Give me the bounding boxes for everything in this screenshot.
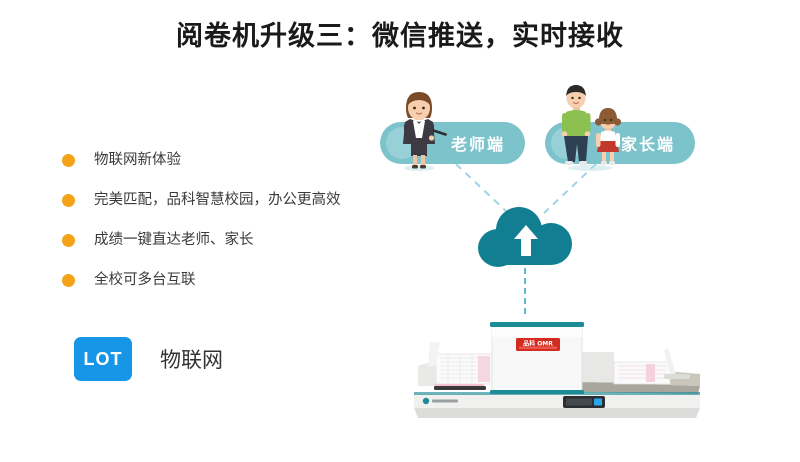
bullet-dot-icon [62, 234, 75, 247]
page-title: 阅卷机升级三：微信推送，实时接收 [0, 14, 800, 53]
iot-label: 物联网 [160, 344, 223, 374]
list-item-label: 全校可多台互联 [94, 268, 196, 292]
slide-canvas: 阅卷机升级三：微信推送，实时接收 物联网新体验 完美匹配，品科智慧校园，办公更高… [0, 0, 800, 462]
feature-bullet-list: 物联网新体验 完美匹配，品科智慧校园，办公更高效 成绩一键直达老师、家长 全校可… [60, 148, 390, 308]
iot-badge: LOT [74, 337, 132, 381]
list-item-label: 完美匹配，品科智慧校园，办公更高效 [94, 188, 341, 212]
bullet-dot-icon [62, 274, 75, 287]
list-item-label: 物联网新体验 [94, 148, 181, 172]
iot-callout: LOT 物联网 [74, 337, 223, 381]
cloud-upload-icon [478, 205, 572, 269]
upload-arrow-icon [512, 223, 540, 257]
omr-scanner: 品科 OMR [400, 302, 720, 432]
architecture-diagram: 老师端 家长端 [360, 80, 790, 452]
list-item: 全校可多台互联 [60, 268, 390, 308]
teacher-figure [388, 88, 450, 172]
list-item: 完美匹配，品科智慧校园，办公更高效 [60, 188, 390, 228]
scanner-illustration: 品科 OMR [400, 302, 720, 432]
parent-child-figure [552, 82, 632, 172]
bullet-dot-icon [62, 194, 75, 207]
list-item: 成绩一键直达老师、家长 [60, 228, 390, 268]
pill-label: 家长端 [621, 131, 695, 155]
bullet-dot-icon [62, 154, 75, 167]
pill-label: 老师端 [451, 131, 525, 155]
svg-text:品科 OMR: 品科 OMR [523, 340, 553, 348]
list-item: 物联网新体验 [60, 148, 390, 188]
list-item-label: 成绩一键直达老师、家长 [94, 228, 254, 252]
